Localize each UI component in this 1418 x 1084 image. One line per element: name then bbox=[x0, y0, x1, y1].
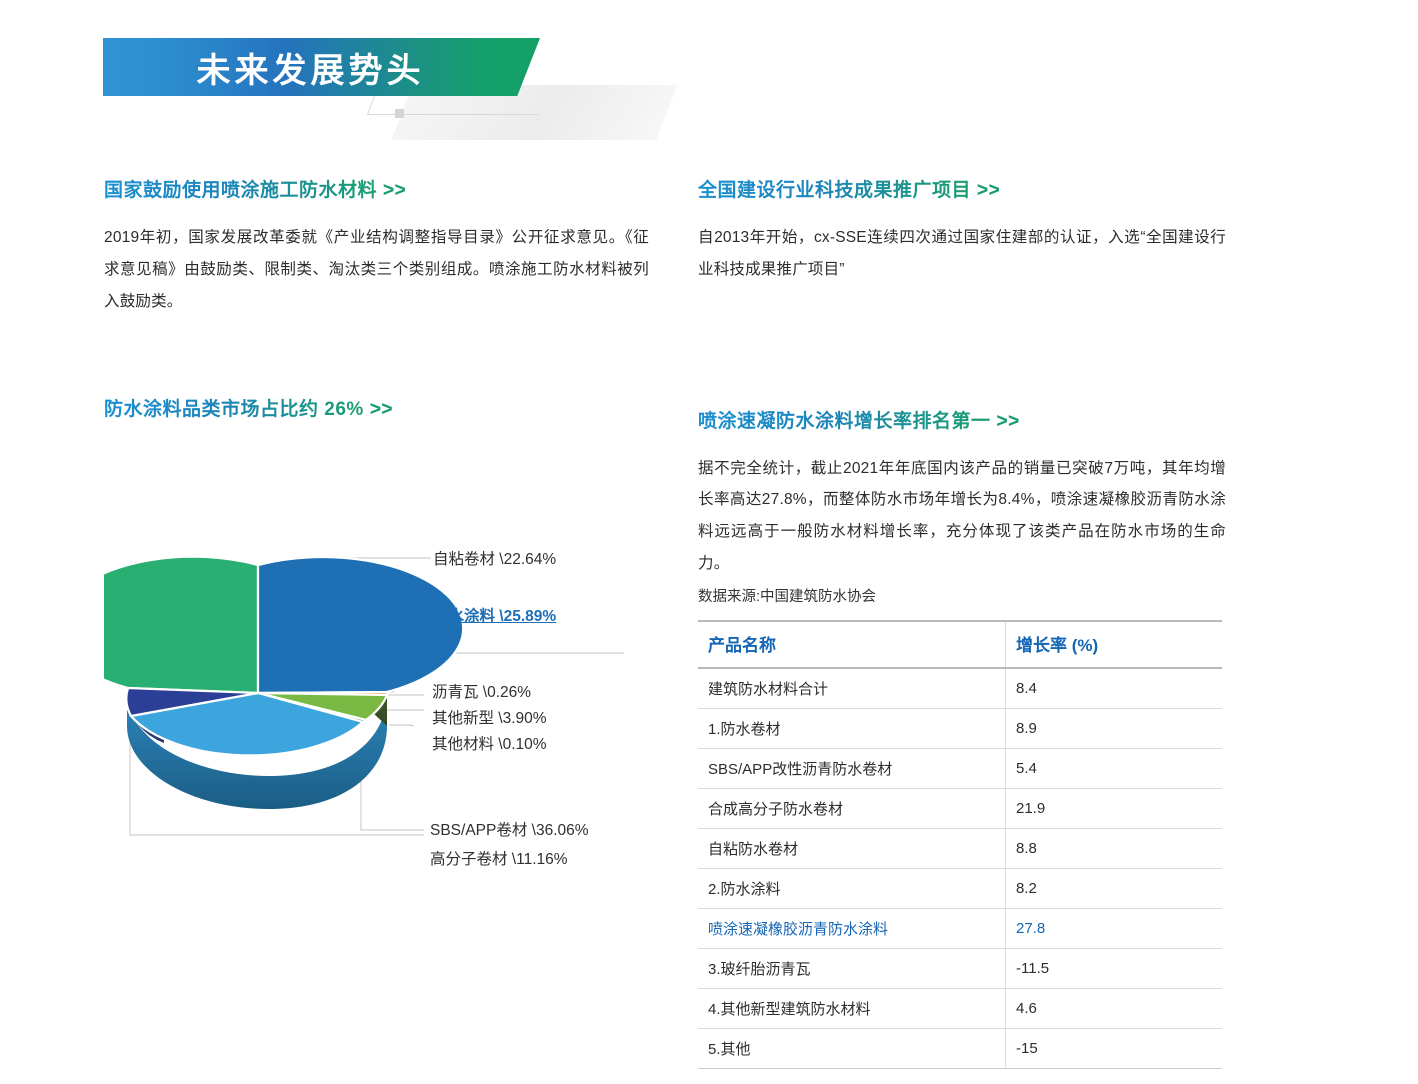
section-2-arrows-icon[interactable]: >> bbox=[977, 180, 1000, 201]
pie-chart: 自粘卷材 \22.64% 防水涂料 \25.89% 沥青瓦 \0.26% 其他新… bbox=[104, 530, 664, 880]
table-cell-growth-rate: 8.8 bbox=[1006, 829, 1223, 869]
section-3-heading: 防水涂料品类市场占比约 26%>> bbox=[104, 394, 393, 421]
pie-label-qitaxinxing: 其他新型 \3.90% bbox=[432, 706, 547, 728]
table-row[interactable]: 2.防水涂料8.2 bbox=[698, 869, 1222, 909]
section-2-body: 自2013年开始，cx-SSE连续四次通过国家住建部的认证，入选“全国建设行业科… bbox=[698, 222, 1226, 286]
pie-label-liqingwa: 沥青瓦 \0.26% bbox=[432, 680, 531, 702]
section-2-title: 全国建设行业科技成果推广项目 bbox=[698, 180, 971, 201]
right-column: 全国建设行业科技成果推广项目>> 自2013年开始，cx-SSE连续四次通过国家… bbox=[698, 175, 1226, 580]
section-4-arrows-icon[interactable]: >> bbox=[997, 411, 1020, 432]
banner-bar: 未来发展势头 bbox=[103, 38, 540, 96]
pie-label-fangshuitulao[interactable]: 防水涂料 \25.89% bbox=[433, 604, 556, 626]
table-source-note: 数据来源:中国建筑防水协会 bbox=[698, 585, 876, 606]
section-4-title: 喷涂速凝防水涂料增长率排名第一 bbox=[698, 411, 991, 432]
section-4-body: 据不完全统计，截止2021年年底国内该产品的销量已突破7万吨，其年均增长率高达2… bbox=[698, 453, 1226, 580]
table-cell-growth-rate: 27.8 bbox=[1006, 909, 1223, 949]
page-banner: 未来发展势头 bbox=[0, 0, 1418, 150]
table-row[interactable]: 4.其他新型建筑防水材料4.6 bbox=[698, 989, 1222, 1029]
pie-label-sbsapp: SBS/APP卷材 \36.06% bbox=[430, 818, 589, 840]
table-row[interactable]: 喷涂速凝橡胶沥青防水涂料27.8 bbox=[698, 909, 1222, 949]
table-cell-product-name: 建筑防水材料合计 bbox=[698, 668, 1006, 709]
table-cell-growth-rate: -11.5 bbox=[1006, 949, 1223, 989]
table-head: 产品名称 增长率 (%) bbox=[698, 621, 1222, 668]
pie-slice-zizhan bbox=[104, 557, 258, 693]
section-2-heading: 全国建设行业科技成果推广项目>> bbox=[698, 175, 1000, 202]
table-cell-product-name: 合成高分子防水卷材 bbox=[698, 789, 1006, 829]
section-3: 防水涂料品类市场占比约 26%>> bbox=[104, 394, 649, 421]
table-cell-product-name: 3.玻纤胎沥青瓦 bbox=[698, 949, 1006, 989]
table-row[interactable]: 建筑防水材料合计8.4 bbox=[698, 668, 1222, 709]
table-cell-growth-rate: -15 bbox=[1006, 1029, 1223, 1069]
table-col-growth-rate: 增长率 (%) bbox=[1006, 621, 1223, 668]
section-4: 喷涂速凝防水涂料增长率排名第一>> 据不完全统计，截止2021年年底国内该产品的… bbox=[698, 406, 1226, 580]
table-cell-product-name: 2.防水涂料 bbox=[698, 869, 1006, 909]
banner-title: 未来发展势头 bbox=[103, 38, 540, 96]
growth-rate-table: 产品名称 增长率 (%) 建筑防水材料合计8.41.防水卷材8.9SBS/APP… bbox=[698, 620, 1222, 1069]
table-col-product-name: 产品名称 bbox=[698, 621, 1006, 668]
table-row[interactable]: 合成高分子防水卷材21.9 bbox=[698, 789, 1222, 829]
table-cell-product-name: 喷涂速凝橡胶沥青防水涂料 bbox=[698, 909, 1006, 949]
section-1-arrows-icon[interactable]: >> bbox=[383, 180, 406, 201]
table-cell-growth-rate: 21.9 bbox=[1006, 789, 1223, 829]
section-1: 国家鼓励使用喷涂施工防水材料>> 2019年初，国家发展改革委就《产业结构调整指… bbox=[104, 175, 649, 317]
section-3-arrows-icon[interactable]: >> bbox=[370, 399, 393, 420]
table-row[interactable]: SBS/APP改性沥青防水卷材5.4 bbox=[698, 749, 1222, 789]
table-cell-growth-rate: 5.4 bbox=[1006, 749, 1223, 789]
spacer-left bbox=[104, 317, 649, 394]
pie-label-qitacailiao: 其他材料 \0.10% bbox=[432, 732, 547, 754]
section-1-heading: 国家鼓励使用喷涂施工防水材料>> bbox=[104, 175, 406, 202]
pie-label-gaofenzi: 高分子卷材 \11.16% bbox=[430, 847, 568, 869]
table-cell-growth-rate: 8.4 bbox=[1006, 668, 1223, 709]
table-row[interactable]: 5.其他-15 bbox=[698, 1029, 1222, 1069]
table-cell-product-name: 自粘防水卷材 bbox=[698, 829, 1006, 869]
table-cell-growth-rate: 8.2 bbox=[1006, 869, 1223, 909]
table-row[interactable]: 3.玻纤胎沥青瓦-11.5 bbox=[698, 949, 1222, 989]
table-cell-growth-rate: 8.9 bbox=[1006, 709, 1223, 749]
table-header-row: 产品名称 增长率 (%) bbox=[698, 621, 1222, 668]
section-4-heading: 喷涂速凝防水涂料增长率排名第一>> bbox=[698, 406, 1020, 433]
spacer-right bbox=[698, 286, 1226, 406]
left-column: 国家鼓励使用喷涂施工防水材料>> 2019年初，国家发展改革委就《产业结构调整指… bbox=[104, 175, 649, 421]
banner-decor-square bbox=[395, 109, 404, 118]
table-row[interactable]: 1.防水卷材8.9 bbox=[698, 709, 1222, 749]
table-cell-product-name: SBS/APP改性沥青防水卷材 bbox=[698, 749, 1006, 789]
section-2: 全国建设行业科技成果推广项目>> 自2013年开始，cx-SSE连续四次通过国家… bbox=[698, 175, 1226, 286]
table-cell-product-name: 4.其他新型建筑防水材料 bbox=[698, 989, 1006, 1029]
table-cell-product-name: 1.防水卷材 bbox=[698, 709, 1006, 749]
table-cell-growth-rate: 4.6 bbox=[1006, 989, 1223, 1029]
table-body: 建筑防水材料合计8.41.防水卷材8.9SBS/APP改性沥青防水卷材5.4合成… bbox=[698, 668, 1222, 1069]
section-3-title: 防水涂料品类市场占比约 26% bbox=[104, 399, 364, 420]
table-cell-product-name: 5.其他 bbox=[698, 1029, 1006, 1069]
pie-label-zizhan: 自粘卷材 \22.64% bbox=[433, 547, 556, 569]
section-1-body: 2019年初，国家发展改革委就《产业结构调整指导目录》公开征求意见。《征求意见稿… bbox=[104, 222, 649, 317]
table-row[interactable]: 自粘防水卷材8.8 bbox=[698, 829, 1222, 869]
section-1-title: 国家鼓励使用喷涂施工防水材料 bbox=[104, 180, 377, 201]
